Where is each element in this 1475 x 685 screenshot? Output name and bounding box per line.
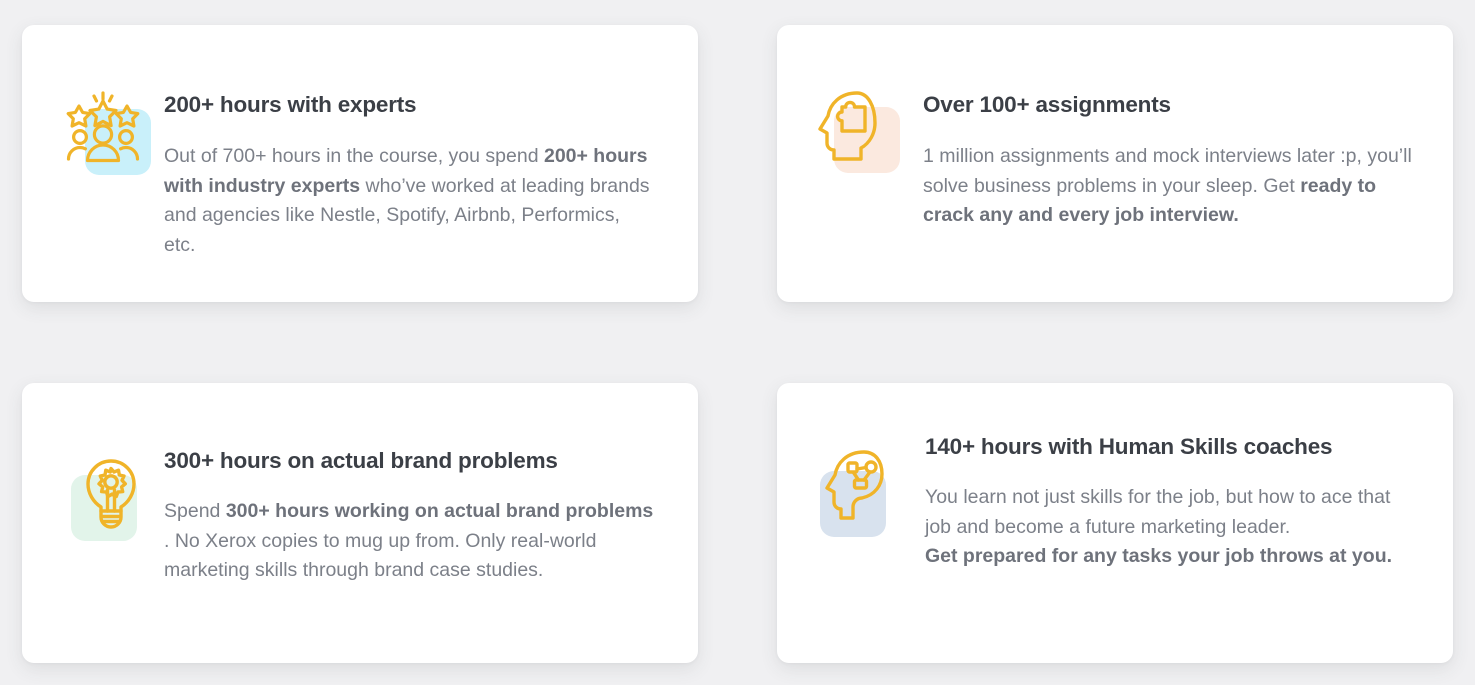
card-title: 140+ hours with Human Skills coaches xyxy=(925,433,1419,461)
card-title: Over 100+ assignments xyxy=(923,91,1419,119)
card-body: Over 100+ assignments 1 million assignme… xyxy=(913,25,1453,231)
card-description: 1 million assignments and mock interview… xyxy=(923,142,1419,231)
head-puzzle-icon xyxy=(812,85,892,165)
icon-box xyxy=(814,445,890,521)
icon-container xyxy=(789,445,915,521)
card-title: 300+ hours on actual brand problems xyxy=(164,447,664,475)
icon-box xyxy=(63,87,139,163)
card-description: You learn not just skills for the job, b… xyxy=(925,483,1419,572)
icon-box xyxy=(812,85,888,161)
feature-card-brand-problems[interactable]: 300+ hours on actual brand problems Spen… xyxy=(22,383,698,663)
lightbulb-gear-icon xyxy=(71,451,151,531)
card-body: 200+ hours with experts Out of 700+ hour… xyxy=(164,25,698,261)
icon-container xyxy=(787,85,913,161)
icon-box xyxy=(63,451,139,527)
feature-card-experts[interactable]: 200+ hours with experts Out of 700+ hour… xyxy=(22,25,698,302)
head-network-icon xyxy=(820,445,900,525)
feature-card-human-skills[interactable]: 140+ hours with Human Skills coaches You… xyxy=(777,383,1453,663)
card-description: Spend 300+ hours working on actual brand… xyxy=(164,497,664,586)
card-body: 300+ hours on actual brand problems Spen… xyxy=(164,383,698,586)
icon-container xyxy=(38,451,164,527)
feature-card-assignments[interactable]: Over 100+ assignments 1 million assignme… xyxy=(777,25,1453,302)
card-description: Out of 700+ hours in the course, you spe… xyxy=(164,142,652,260)
people-stars-icon xyxy=(63,87,143,167)
feature-card-grid: 200+ hours with experts Out of 700+ hour… xyxy=(0,0,1475,685)
card-body: 140+ hours with Human Skills coaches You… xyxy=(915,383,1453,572)
icon-container xyxy=(38,87,164,163)
card-title: 200+ hours with experts xyxy=(164,91,652,119)
